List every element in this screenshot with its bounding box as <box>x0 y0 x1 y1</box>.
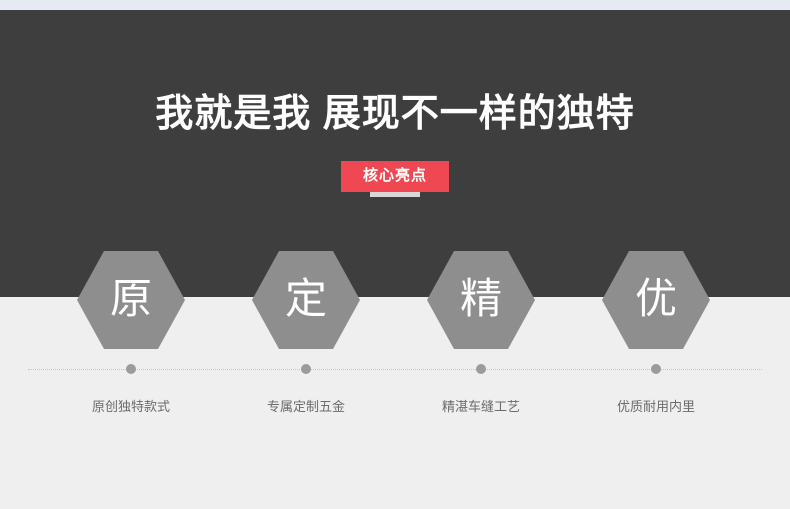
timeline-dot-2 <box>301 364 311 374</box>
hexagon-glyph: 优 <box>635 278 677 320</box>
page-title: 我就是我 展现不一样的独特 <box>0 90 790 138</box>
timeline-dot-3 <box>476 364 486 374</box>
feature-caption-1: 原创独特款式 <box>51 398 211 416</box>
hexagon-feature-1: 原 <box>77 251 185 349</box>
hexagon-glyph: 精 <box>460 278 502 320</box>
timeline-dot-1 <box>126 364 136 374</box>
hexagon-glyph: 原 <box>110 278 152 320</box>
highlight-badge: 核心亮点 <box>341 161 449 192</box>
promo-banner: 我就是我 展现不一样的独特 核心亮点 原 定 精 优 原创独特款式 专属定制五金… <box>0 0 790 509</box>
hexagon-row: 原 定 精 优 <box>0 251 790 349</box>
timeline-dot-4 <box>651 364 661 374</box>
feature-caption-4: 优质耐用内里 <box>576 398 736 416</box>
feature-caption-3: 精湛车缝工艺 <box>401 398 561 416</box>
highlight-badge-label: 核心亮点 <box>363 167 427 184</box>
hexagon-glyph: 定 <box>285 278 327 320</box>
hexagon-feature-2: 定 <box>252 251 360 349</box>
top-accent-strip <box>0 0 790 10</box>
badge-underline-bar <box>370 192 420 197</box>
badge-container: 核心亮点 <box>0 161 790 192</box>
feature-caption-2: 专属定制五金 <box>226 398 386 416</box>
hexagon-feature-4: 优 <box>602 251 710 349</box>
hexagon-feature-3: 精 <box>427 251 535 349</box>
